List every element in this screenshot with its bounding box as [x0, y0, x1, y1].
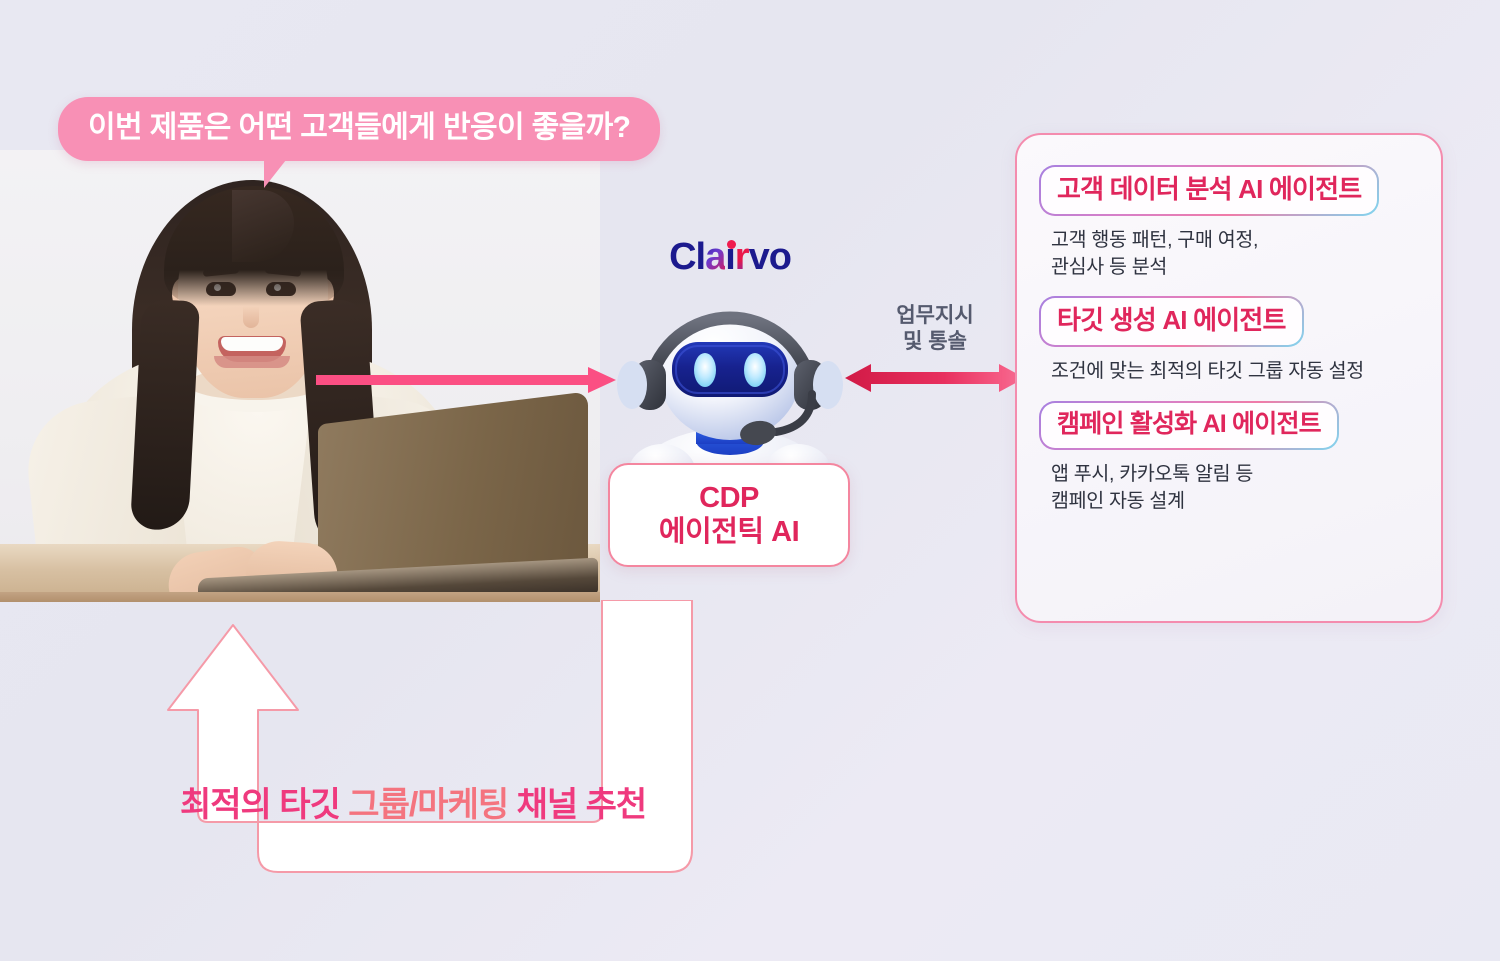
logo-part-vo: vo [749, 236, 791, 278]
cdp-box-line1: CDP [699, 481, 759, 515]
logo-part-r: r [735, 236, 749, 278]
diagram-canvas: 이번 제품은 어떤 고객들에게 반응이 좋을까? 업무지시 및 통솔 Clair… [0, 0, 1500, 961]
feedback-label-part-b: 그룹/마케팅 [348, 786, 508, 824]
agent-desc-0: 고객 행동 패턴, 구매 여정, 관심사 등 분석 [1051, 227, 1419, 281]
teeth [221, 337, 283, 351]
lower-lip [214, 356, 290, 368]
logo-part-cl: Cl [669, 236, 705, 278]
cdp-agentic-ai-box: CDP 에이전틱 AI [608, 463, 850, 567]
connector-label-line1: 업무지시 [855, 303, 1015, 329]
logo-part-a: a [705, 236, 725, 278]
agent-title-pill-wrap[interactable]: 고객 데이터 분석 AI 에이전트 [1039, 165, 1379, 216]
agent-card: 타깃 생성 AI 에이전트 조건에 맞는 최적의 타깃 그룹 자동 설정 [1039, 296, 1419, 385]
agent-desc-1: 조건에 맞는 최적의 타깃 그룹 자동 설정 [1051, 358, 1419, 385]
speech-bubble-tail [264, 160, 286, 188]
agent-title-pill-wrap[interactable]: 타깃 생성 AI 에이전트 [1039, 296, 1304, 347]
nose [243, 306, 259, 328]
speech-bubble: 이번 제품은 어떤 고객들에게 반응이 좋을까? [58, 97, 660, 161]
double-arrow-icon [845, 358, 1025, 398]
logo-part-i: i [725, 236, 735, 278]
feedback-label-part-c: 채널 추천 [508, 786, 646, 824]
feedback-label-part-a: 최적의 타깃 [180, 786, 348, 824]
agents-panel: 고객 데이터 분석 AI 에이전트 고객 행동 패턴, 구매 여정, 관심사 등… [1015, 133, 1443, 623]
cdp-box-line2: 에이전틱 AI [659, 515, 799, 549]
hair-strand-left [130, 299, 200, 532]
agent-title-1: 타깃 생성 AI 에이전트 [1041, 298, 1302, 345]
agent-card: 고객 데이터 분석 AI 에이전트 고객 행동 패턴, 구매 여정, 관심사 등… [1039, 165, 1419, 280]
feedback-loop-arrow-icon [100, 600, 780, 890]
arrow-user-to-hub-icon [316, 366, 616, 394]
feedback-loop-label: 최적의 타깃 그룹/마케팅 채널 추천 [180, 777, 780, 826]
agent-title-2: 캠페인 활성화 AI 에이전트 [1041, 403, 1337, 449]
clairvo-logo: Clairvo [600, 238, 860, 276]
agent-title-pill-wrap[interactable]: 캠페인 활성화 AI 에이전트 [1039, 401, 1339, 451]
connector-label-line2: 및 통솔 [855, 329, 1015, 355]
agent-title-0: 고객 데이터 분석 AI 에이전트 [1041, 167, 1377, 214]
agent-desc-2: 앱 푸시, 카카오톡 알림 등 캠페인 자동 설계 [1051, 461, 1419, 515]
agent-card: 캠페인 활성화 AI 에이전트 앱 푸시, 카카오톡 알림 등 캠페인 자동 설… [1039, 401, 1419, 515]
connector-label: 업무지시 및 통솔 [855, 303, 1015, 356]
speech-bubble-text: 이번 제품은 어떤 고객들에게 반응이 좋을까? [88, 113, 630, 143]
